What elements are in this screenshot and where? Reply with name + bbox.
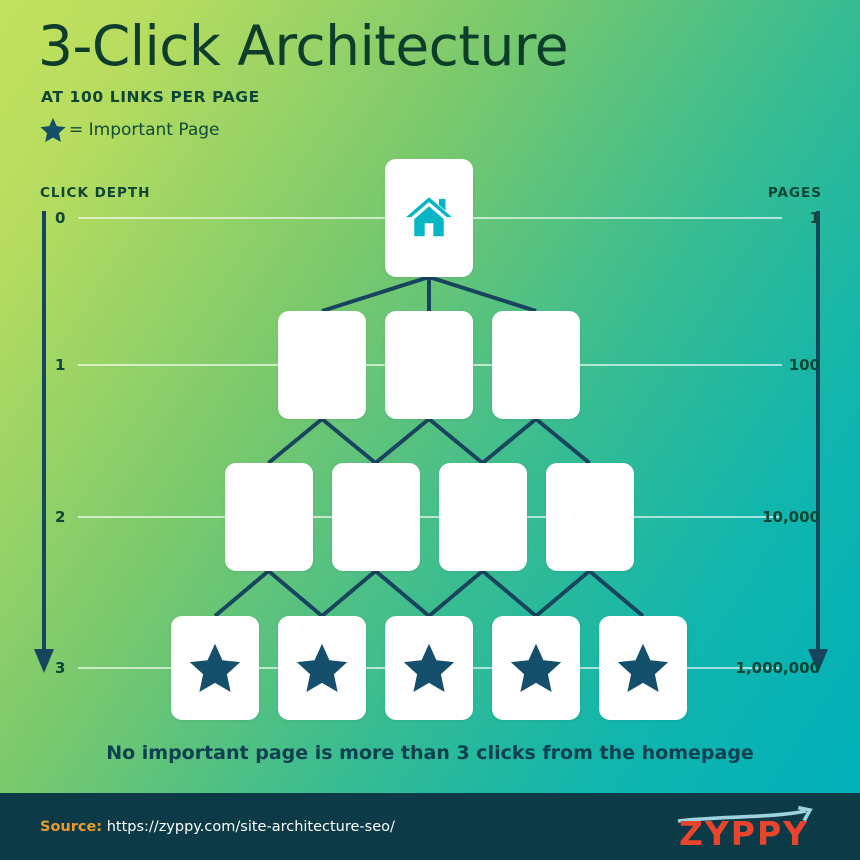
star-icon: [187, 640, 243, 696]
tree-connector: [429, 277, 536, 311]
infographic-canvas: 3-Click Architecture AT 100 LINKS PER PA…: [0, 0, 860, 860]
page-node[interactable]: [278, 311, 366, 419]
tree-connector: [376, 571, 430, 616]
page-node[interactable]: [332, 463, 420, 571]
page-node[interactable]: [278, 616, 366, 720]
source-line: Source: https://zyppy.com/site-architect…: [40, 819, 395, 835]
page-node[interactable]: [492, 311, 580, 419]
summary-caption: No important page is more than 3 clicks …: [0, 742, 860, 764]
tree-connector: [429, 571, 483, 616]
page-node[interactable]: [385, 616, 473, 720]
page-node[interactable]: [171, 616, 259, 720]
tree-connector: [590, 571, 644, 616]
page-node[interactable]: [599, 616, 687, 720]
page-node[interactable]: [385, 159, 473, 277]
page-node[interactable]: [439, 463, 527, 571]
tree-connector: [269, 571, 323, 616]
tree-connector: [376, 419, 430, 463]
page-node[interactable]: [385, 311, 473, 419]
star-icon: [508, 640, 564, 696]
home-icon: [403, 192, 455, 244]
star-icon: [294, 640, 350, 696]
page-node[interactable]: [225, 463, 313, 571]
tree-connector: [536, 571, 590, 616]
footer-bar: Source: https://zyppy.com/site-architect…: [0, 793, 860, 860]
source-label: Source:: [40, 819, 102, 835]
tree-connector: [536, 419, 590, 463]
logo-wordmark: ZYPPY: [679, 814, 809, 850]
tree-connector: [483, 419, 537, 463]
tree-connector: [322, 419, 376, 463]
tree-connector: [322, 571, 376, 616]
tree-connector: [215, 571, 269, 616]
star-icon: [615, 640, 671, 696]
tree-connector: [269, 419, 323, 463]
source-url[interactable]: https://zyppy.com/site-architecture-seo/: [107, 819, 395, 835]
star-icon: [401, 640, 457, 696]
page-node[interactable]: [492, 616, 580, 720]
tree-connector: [483, 571, 537, 616]
page-node[interactable]: [546, 463, 634, 571]
tree-connector: [322, 277, 429, 311]
zyppy-logo: ZYPPY: [660, 804, 828, 850]
tree-connector: [429, 419, 483, 463]
